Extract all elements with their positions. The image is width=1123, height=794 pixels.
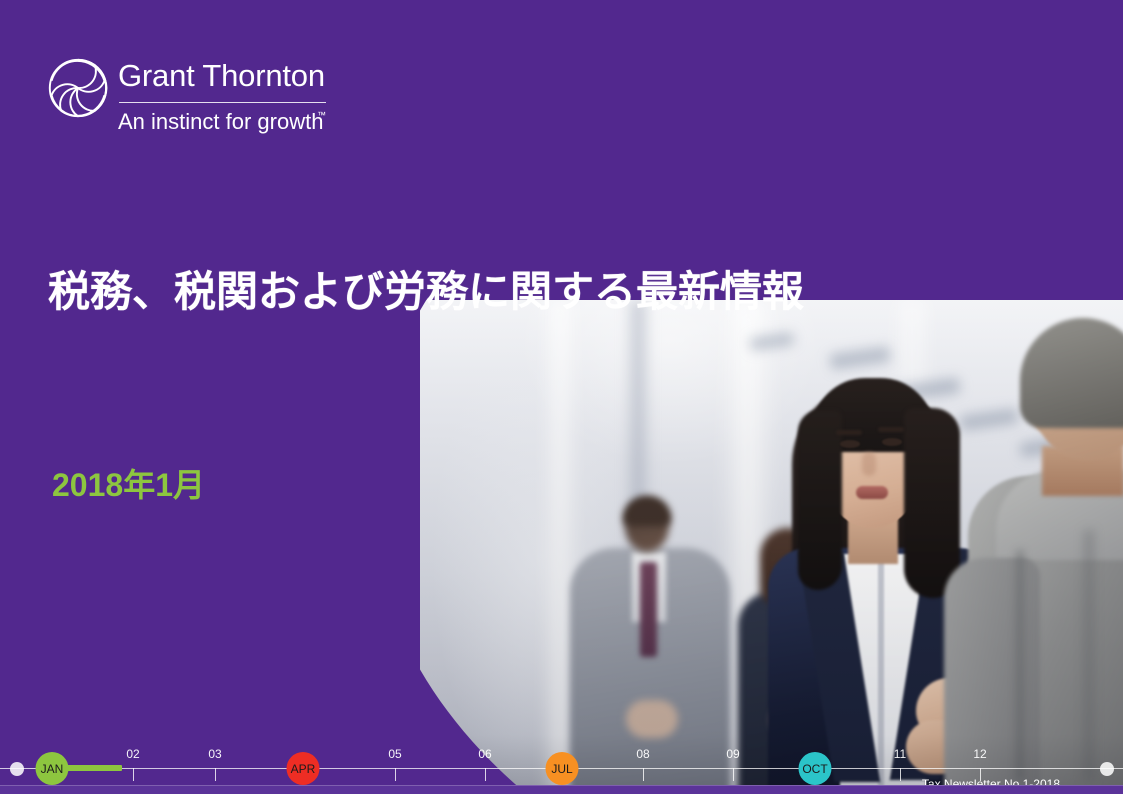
bottom-accent-band bbox=[0, 785, 1123, 794]
brand-logo: Grant Thornton An instinct for growth ™ bbox=[48, 56, 348, 146]
photo-tone-overlay bbox=[420, 300, 1123, 794]
logo-divider bbox=[119, 102, 326, 103]
timeline-tick-label: 02 bbox=[126, 747, 139, 761]
timeline-tick-label: 08 bbox=[636, 747, 649, 761]
grant-thornton-swirl-icon bbox=[48, 58, 108, 118]
timeline-start-dot bbox=[10, 762, 24, 776]
trademark-icon: ™ bbox=[317, 110, 326, 120]
photo-image bbox=[420, 300, 1123, 794]
timeline-tick-label: 09 bbox=[726, 747, 739, 761]
timeline-tick-mark bbox=[643, 768, 644, 781]
timeline-tick-label: 03 bbox=[208, 747, 221, 761]
publication-date: 2018年1月 bbox=[52, 460, 205, 506]
page-title: 税務、税関および労務に関する最新情報 bbox=[48, 258, 804, 319]
logo-tagline: An instinct for growth bbox=[118, 109, 323, 135]
timeline-month-marker-jan[interactable]: JAN bbox=[36, 752, 69, 785]
timeline-tick-mark bbox=[133, 768, 134, 781]
timeline-tick-label: 05 bbox=[388, 747, 401, 761]
timeline-tick-label: 11 bbox=[894, 747, 906, 761]
timeline-progress-bar bbox=[66, 765, 122, 771]
timeline-tick-label: 12 bbox=[973, 747, 986, 761]
timeline-tick-mark bbox=[733, 768, 734, 781]
timeline-tick-mark bbox=[395, 768, 396, 781]
timeline-month-marker-jul[interactable]: JUL bbox=[546, 752, 579, 785]
timeline-tick-label: 06 bbox=[478, 747, 491, 761]
timeline-month-marker-apr[interactable]: APR bbox=[287, 752, 320, 785]
timeline-tick-mark bbox=[485, 768, 486, 781]
title-slide: Grant Thornton An instinct for growth ™ … bbox=[0, 0, 1123, 794]
timeline-end-dot bbox=[1100, 762, 1114, 776]
timeline-month-marker-oct[interactable]: OCT bbox=[799, 752, 832, 785]
timeline-tick-mark bbox=[900, 768, 901, 781]
timeline-tick-mark bbox=[215, 768, 216, 781]
logo-wordmark: Grant Thornton bbox=[118, 58, 325, 94]
